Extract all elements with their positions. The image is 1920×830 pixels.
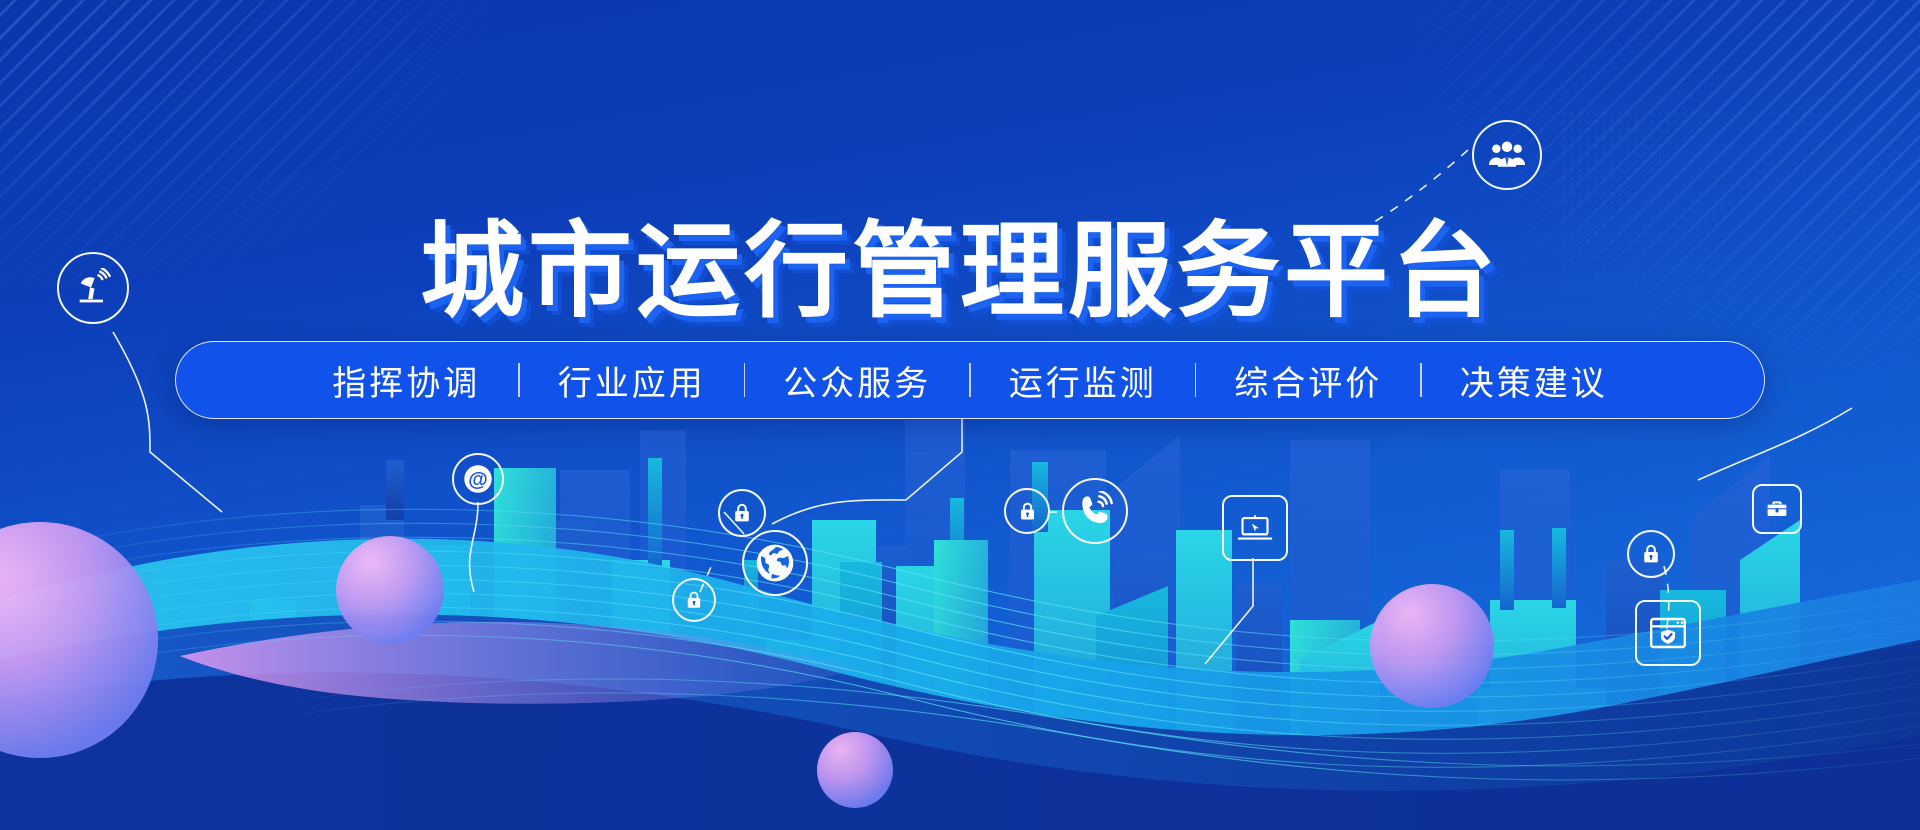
nav-item-gongzhong-fuwu[interactable]: 公众服务 — [745, 356, 969, 405]
page-title: 城市运行管理服务平台 — [0, 218, 1920, 326]
nav-item-zhihui-xietiao[interactable]: 指挥协调 — [294, 356, 518, 405]
lock-icon-2[interactable] — [672, 578, 716, 622]
phone-signal-icon[interactable] — [1062, 478, 1128, 544]
city-platform-banner: 城市运行管理服务平台 指挥协调 行业应用 公众服务 运行监测 综合评价 决策建议 — [0, 0, 1920, 830]
nav-item-juece-jianyi[interactable]: 决策建议 — [1422, 356, 1646, 405]
globe-icon[interactable] — [742, 530, 808, 596]
lock-icon-3[interactable] — [1004, 488, 1050, 534]
svg-text:@: @ — [468, 469, 488, 491]
browser-shield-icon[interactable] — [1635, 600, 1701, 666]
briefcase-icon[interactable] — [1752, 484, 1802, 534]
main-nav-bar: 指挥协调 行业应用 公众服务 运行监测 综合评价 决策建议 — [175, 341, 1765, 419]
laptop-cursor-icon[interactable] — [1222, 495, 1288, 561]
people-group-icon[interactable] — [1472, 120, 1542, 190]
nav-item-zonghe-pingjia[interactable]: 综合评价 — [1196, 356, 1420, 405]
lock-icon-4[interactable] — [1627, 530, 1675, 578]
lock-icon-1[interactable] — [718, 489, 766, 537]
nav-item-hangye-yingyong[interactable]: 行业应用 — [520, 356, 744, 405]
at-sign-icon[interactable]: @ — [452, 453, 504, 505]
nav-item-yunxing-jiance[interactable]: 运行监测 — [971, 356, 1195, 405]
nav-pill: 指挥协调 行业应用 公众服务 运行监测 综合评价 决策建议 — [175, 341, 1765, 419]
satellite-dish-icon[interactable] — [57, 252, 129, 324]
